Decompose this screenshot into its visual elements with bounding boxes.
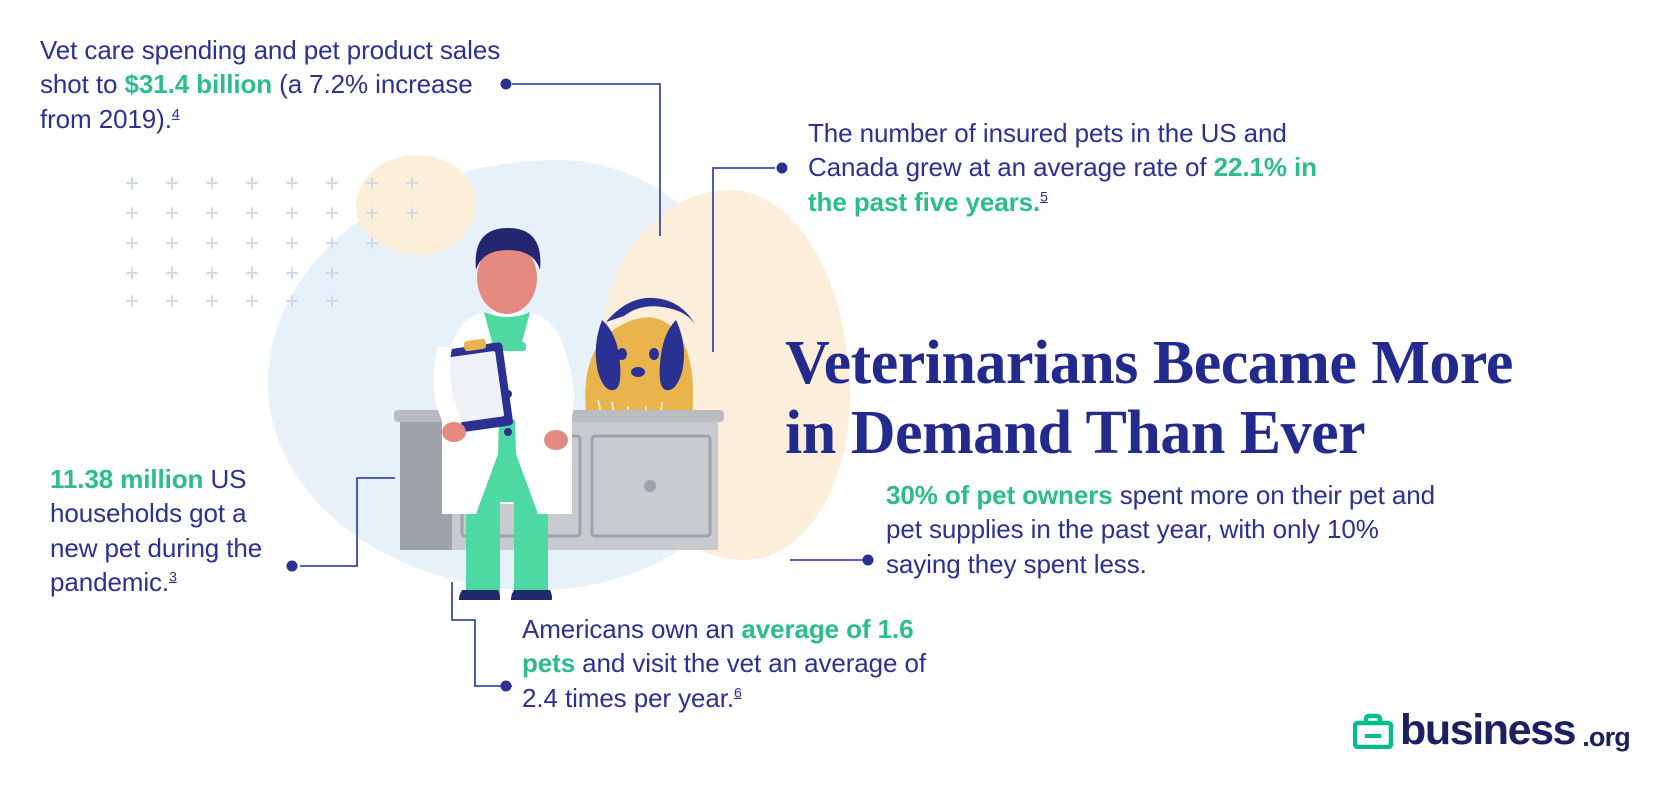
- callout-insured-pets: The number of insured pets in the US and…: [808, 116, 1328, 219]
- callout-average-pre: Americans own an: [522, 614, 741, 644]
- connector-dot-average: [501, 681, 512, 692]
- callout-spending-highlight: $31.4 billion: [124, 69, 272, 99]
- callout-owner-spending: 30% of pet owners spent more on their pe…: [886, 478, 1446, 581]
- callout-average-pets: Americans own an average of 1.6 pets and…: [522, 612, 942, 715]
- connector-dot-ownerspend: [863, 555, 874, 566]
- callout-households-footnote[interactable]: 3: [169, 568, 177, 584]
- callout-average-post: and visit the vet an average of 2.4 time…: [522, 648, 926, 712]
- callout-ownerspend-highlight: 30% of pet owners: [886, 480, 1113, 510]
- logo-wordmark: business: [1400, 709, 1575, 752]
- briefcase-icon: [1353, 713, 1393, 749]
- page-title: Veterinarians Became More in Demand Than…: [785, 328, 1585, 469]
- callout-households-new-pet: 11.38 million US households got a new pe…: [50, 462, 290, 599]
- infographic-canvas: Vet care spending and pet product sales …: [0, 0, 1668, 788]
- callout-average-footnote[interactable]: 6: [734, 684, 742, 700]
- callout-insured-footnote[interactable]: 5: [1040, 188, 1048, 204]
- page-title-line-2: in Demand Than Ever: [785, 399, 1365, 467]
- logo-tld: .org: [1582, 724, 1630, 751]
- callout-households-highlight: 11.38 million: [50, 464, 203, 494]
- business-org-logo[interactable]: business .org: [1353, 709, 1630, 752]
- page-title-line-1: Veterinarians Became More: [785, 329, 1513, 397]
- vet-and-dog-illustration: [380, 150, 800, 600]
- callout-spending-footnote[interactable]: 4: [172, 105, 180, 121]
- callout-vet-spending: Vet care spending and pet product sales …: [40, 33, 510, 136]
